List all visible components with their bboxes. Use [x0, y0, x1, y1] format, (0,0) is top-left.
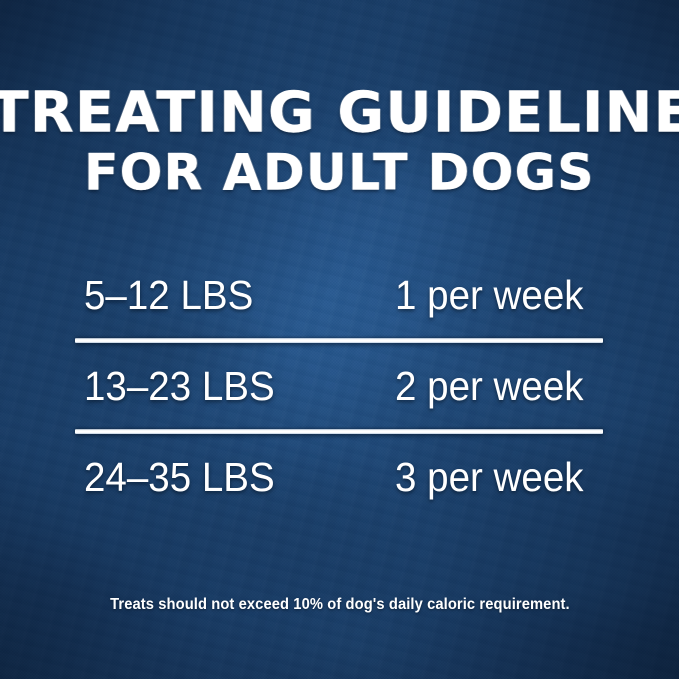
- title-line-secondary: For Adult Dogs: [0, 143, 679, 202]
- table-row: 13–23 LBS 2 per week: [0, 343, 679, 429]
- title-line-primary: Treating Guidelines: [0, 81, 679, 142]
- page-title: Treating Guidelines For Adult Dogs: [0, 82, 679, 202]
- row-weight-value: 24–35 LBS: [84, 455, 376, 499]
- table-row: 24–35 LBS 3 per week: [0, 434, 679, 520]
- row-weight-value: 5–12 LBS: [84, 273, 376, 317]
- footer: Treats should not exceed 10% of dog's da…: [0, 596, 679, 614]
- row-frequency-value: 3 per week: [395, 455, 591, 499]
- row-frequency-value: 1 per week: [395, 273, 591, 317]
- treating-guidelines-poster: Treating Guidelines For Adult Dogs 5–12 …: [0, 0, 679, 679]
- poster-content: Treating Guidelines For Adult Dogs 5–12 …: [0, 0, 679, 679]
- row-weight-value: 13–23 LBS: [84, 364, 376, 408]
- row-frequency-value: 2 per week: [395, 364, 591, 408]
- table-row: 5–12 LBS 1 per week: [0, 252, 679, 338]
- disclaimer-text: Treats should not exceed 10% of dog's da…: [110, 596, 570, 614]
- guidelines-table: 5–12 LBS 1 per week 13–23 LBS 2 per week…: [0, 252, 679, 520]
